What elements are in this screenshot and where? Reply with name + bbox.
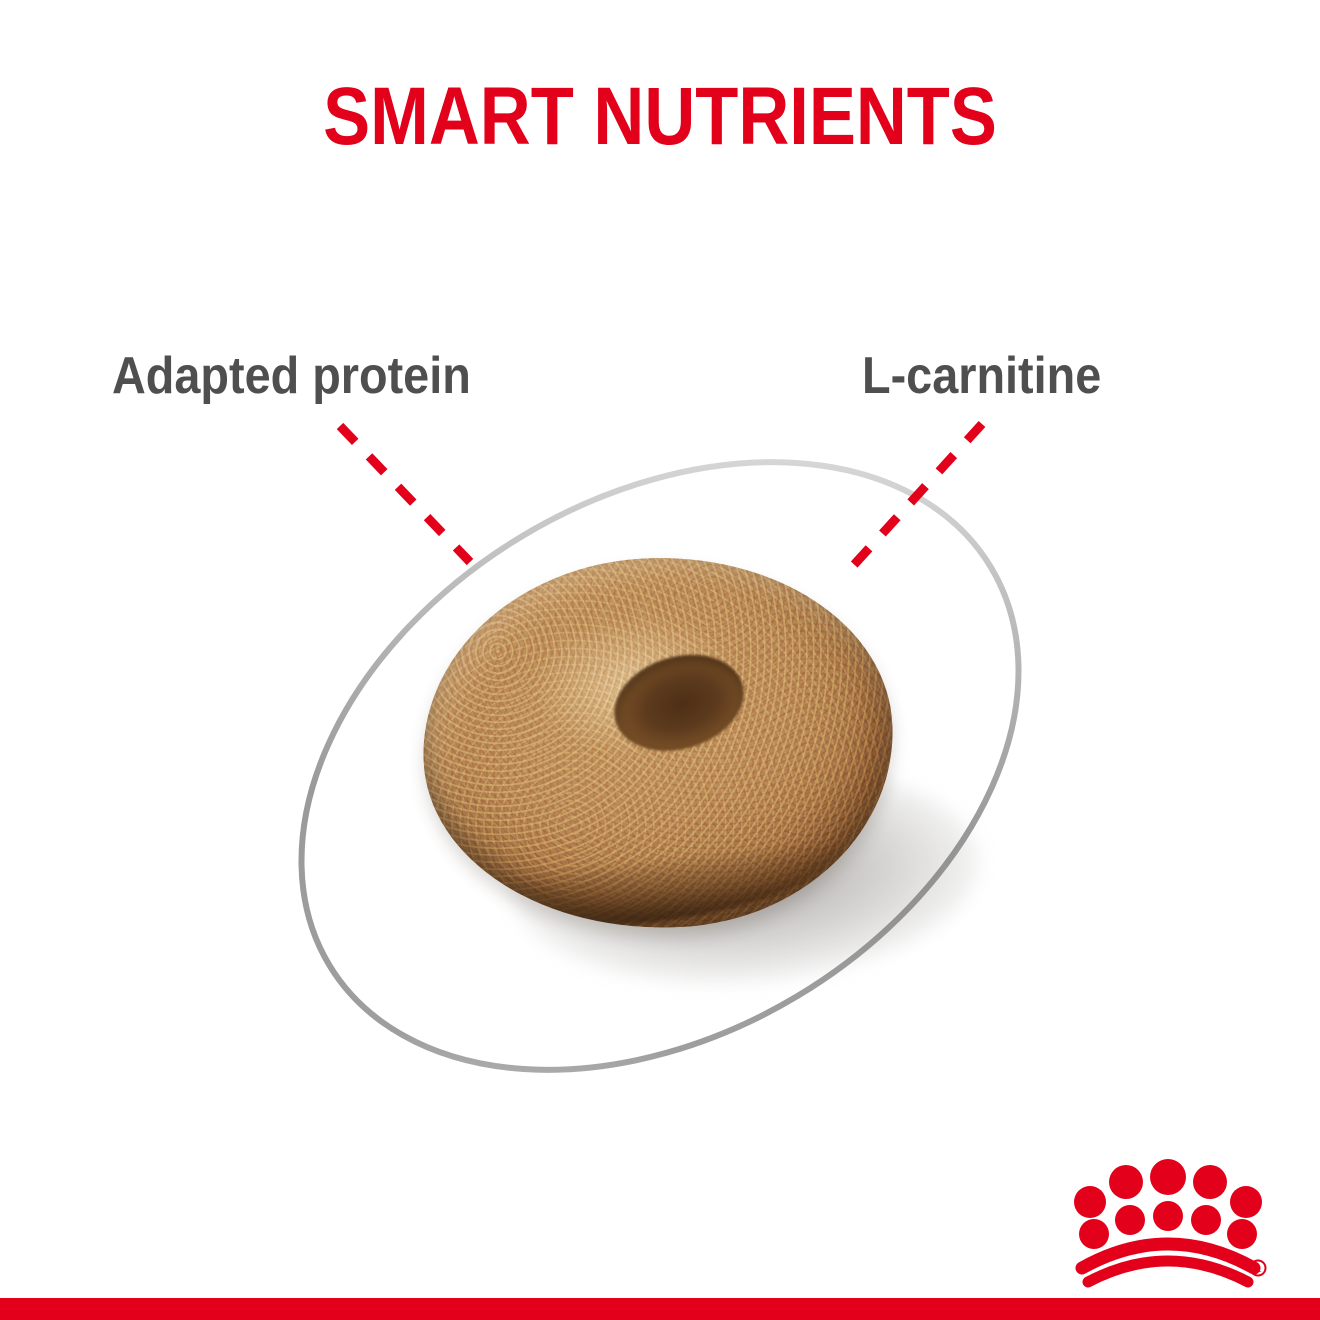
callout-label-adapted-protein: Adapted protein [112,348,471,404]
kibble-body [414,546,903,940]
footer-accent-bar [0,1298,1320,1320]
product-feature-panel: SMART NUTRIENTS [0,0,1320,1320]
kibble-image [415,552,915,952]
callout-label-l-carnitine: L-carnitine [862,348,1101,404]
royal-canin-crown-logo: R [1068,1158,1268,1288]
crown-arc-lower [1088,1261,1248,1282]
leader-line-adapted-protein [340,426,470,562]
crown-icon: R [1068,1158,1268,1288]
svg-text:R: R [1255,1264,1262,1275]
